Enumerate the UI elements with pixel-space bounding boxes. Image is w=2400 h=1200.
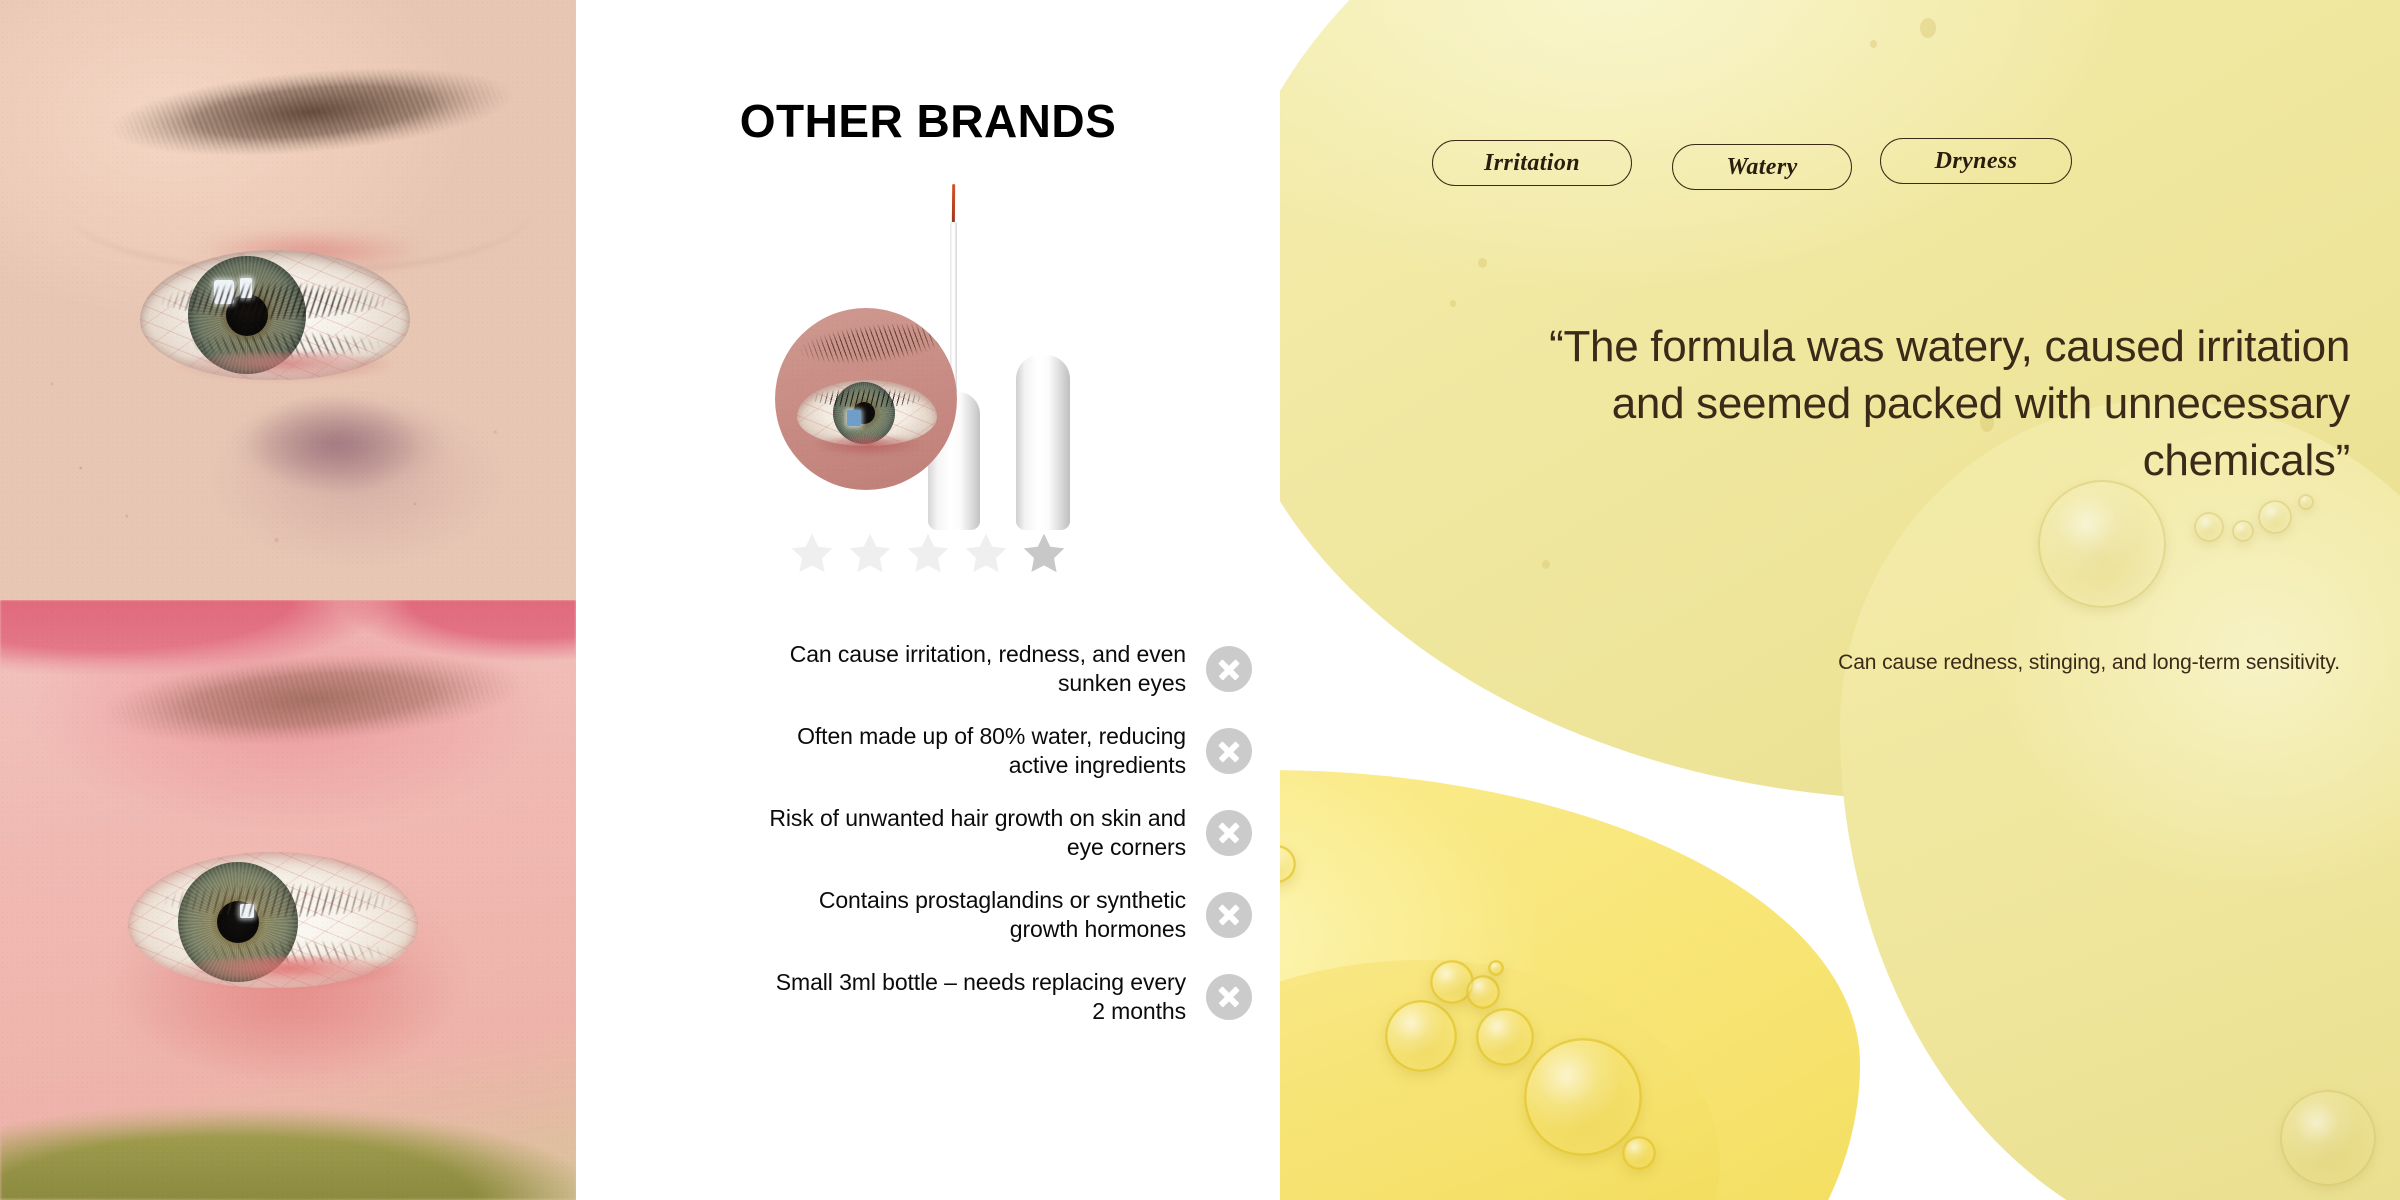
list-item-label: Contains prostaglandins or synthetic gro… <box>766 886 1186 945</box>
review-quote: “The formula was watery, caused irritati… <box>1470 318 2350 490</box>
oil-speck <box>1450 300 1456 307</box>
tag-label: Dryness <box>1935 148 2018 175</box>
oil-bubble <box>2258 500 2292 534</box>
photo-grain <box>775 308 957 490</box>
eye-closeup-circle <box>775 308 957 490</box>
tag-label: Watery <box>1726 154 1797 181</box>
list-item-label: Can cause irritation, redness, and even … <box>766 640 1186 699</box>
cross-icon <box>1206 892 1252 938</box>
cross-icon <box>1206 728 1252 774</box>
list-item-label: Often made up of 80% water, reducing act… <box>766 722 1186 781</box>
product-shot <box>576 170 1280 530</box>
issue-tags: Irritation Watery Dryness <box>1280 0 2400 200</box>
oil-speck <box>1542 560 1550 569</box>
comparison-infographic: OTHER BRANDS <box>0 0 2400 1200</box>
list-item: Contains prostaglandins or synthetic gro… <box>576 886 1280 945</box>
photo-grain <box>0 0 576 600</box>
oil-bubble <box>2194 512 2224 542</box>
list-item-label: Risk of unwanted hair growth on skin and… <box>766 804 1186 863</box>
cross-icon <box>1206 974 1252 1020</box>
star-icon-4 <box>962 530 1010 578</box>
oil-bubble <box>2038 480 2166 608</box>
review-caption: Can cause redness, stinging, and long-te… <box>1780 648 2340 678</box>
serum-bottle-cap-icon <box>1016 355 1070 530</box>
photo-grain <box>0 600 576 1200</box>
oil-bubble <box>1385 1000 1457 1072</box>
oil-bubble <box>2232 520 2254 542</box>
oil-bubble <box>2280 1090 2376 1186</box>
oil-bubble <box>1476 1008 1534 1066</box>
oil-bubble <box>1524 1038 1642 1156</box>
tag-watery[interactable]: Watery <box>1672 144 1852 190</box>
list-item: Can cause irritation, redness, and even … <box>576 640 1280 699</box>
cross-icon <box>1206 810 1252 856</box>
photo-irritated-eye-bottom <box>0 600 576 1200</box>
cross-icon <box>1206 646 1252 692</box>
oil-bubble <box>1466 975 1500 1009</box>
drawbacks-list: Can cause irritation, redness, and even … <box>576 640 1280 1049</box>
list-item: Often made up of 80% water, reducing act… <box>576 722 1280 781</box>
star-icon-1 <box>788 530 836 578</box>
list-item: Risk of unwanted hair growth on skin and… <box>576 804 1280 863</box>
page-title: OTHER BRANDS <box>576 98 1280 144</box>
other-brands-card: OTHER BRANDS <box>576 0 1280 1200</box>
tag-irritation[interactable]: Irritation <box>1432 140 1632 186</box>
oil-speck <box>1478 258 1487 268</box>
oil-review-panel: Irritation Watery Dryness “The formula w… <box>1280 0 2400 1200</box>
oil-bubble <box>1488 960 1504 976</box>
oil-bubble <box>2298 494 2314 510</box>
list-item: Small 3ml bottle – needs replacing every… <box>576 968 1280 1027</box>
applicator-brush-tip-icon <box>952 184 955 226</box>
star-icon-3 <box>904 530 952 578</box>
tag-label: Irritation <box>1484 150 1580 177</box>
tag-dryness[interactable]: Dryness <box>1880 138 2072 184</box>
oil-bubble <box>1622 1136 1656 1170</box>
photo-irritated-eye-top <box>0 0 576 600</box>
star-rating <box>576 530 1280 578</box>
star-icon-5 <box>1020 530 1068 578</box>
star-icon-2 <box>846 530 894 578</box>
photo-column <box>0 0 576 1200</box>
list-item-label: Small 3ml bottle – needs replacing every… <box>766 968 1186 1027</box>
